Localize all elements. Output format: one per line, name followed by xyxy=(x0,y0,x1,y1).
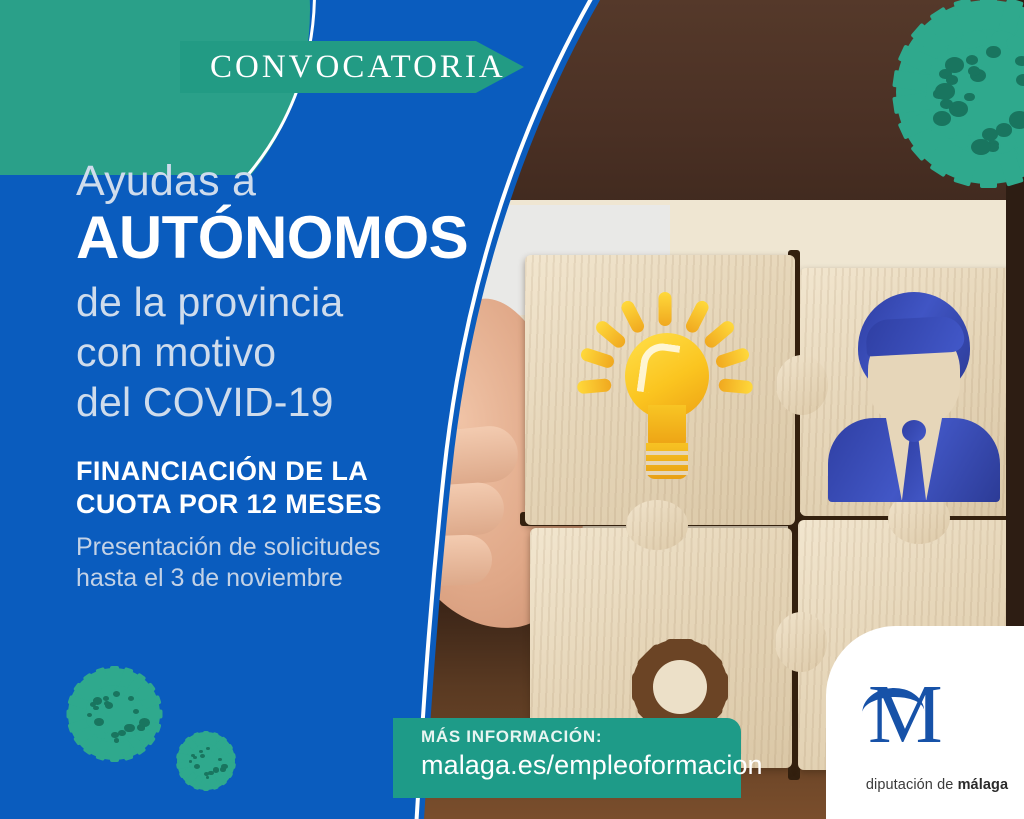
puzzle-knob xyxy=(626,500,688,550)
lightbulb-ring xyxy=(646,451,688,455)
convocatoria-label: CONVOCATORIA xyxy=(180,51,506,84)
virus-spot xyxy=(194,764,200,769)
deadline-line-2: hasta el 3 de noviembre xyxy=(76,563,496,594)
headline-line-5: del COVID-19 xyxy=(76,377,496,427)
lightbulb-ray xyxy=(659,292,672,326)
convocatoria-banner: CONVOCATORIA xyxy=(180,41,524,93)
virus-spot xyxy=(133,709,139,714)
logo-caption-bold: málaga xyxy=(958,777,1009,793)
virus-spot xyxy=(138,726,144,731)
puzzle-knob xyxy=(775,612,827,672)
coronavirus-icon-medium xyxy=(48,648,180,780)
financiacion-line-1: FINANCIACIÓN DE LA xyxy=(76,455,496,488)
lightbulb-ray xyxy=(579,347,615,370)
website-url[interactable]: malaga.es/empleoformacion xyxy=(421,749,741,781)
virus-spot xyxy=(218,758,222,761)
more-info-label: MÁS INFORMACIÓN: xyxy=(421,727,741,747)
lightbulb-ray xyxy=(718,378,753,394)
subheading-block: FINANCIACIÓN DE LA CUOTA POR 12 MESES Pr… xyxy=(76,455,496,594)
virus-spot xyxy=(93,697,103,705)
lightbulb-ray xyxy=(714,347,750,370)
deadline-line-1: Presentación de solicitudes xyxy=(76,532,496,563)
gear-hole xyxy=(653,660,707,714)
headline-autonomos: AUTÓNOMOS xyxy=(76,206,496,270)
virus-spot xyxy=(935,83,955,99)
lightbulb-ray xyxy=(577,378,612,394)
virus-spot xyxy=(208,771,213,775)
businessman-tie-knot xyxy=(902,420,926,442)
poster: CONVOCATORIA Ayudas a AUTÓNOMOS de la pr… xyxy=(0,0,1024,819)
lightbulb-ring xyxy=(646,471,688,475)
lightbulb-ray xyxy=(684,299,711,335)
diputacion-logo-panel: M diputación de málaga xyxy=(826,626,1024,819)
coronavirus-icon-small xyxy=(163,718,249,804)
virus-spot xyxy=(1015,56,1024,67)
virus-spot xyxy=(193,756,197,759)
lightbulb-ring xyxy=(646,461,688,465)
headline-line-4: con motivo xyxy=(76,327,496,377)
headline-block: Ayudas a AUTÓNOMOS de la provincia con m… xyxy=(76,160,496,428)
virus-spot xyxy=(199,750,203,753)
headline-line-1: Ayudas a xyxy=(76,160,496,204)
businessman-icon xyxy=(810,288,1020,498)
lightbulb-icon xyxy=(560,275,770,485)
logo-caption: diputación de málaga xyxy=(852,778,1022,794)
more-info-box: MÁS INFORMACIÓN: malaga.es/empleoformaci… xyxy=(393,718,741,798)
virus-spot xyxy=(103,696,109,701)
businessman-fringe xyxy=(865,315,965,356)
virus-spot xyxy=(128,696,134,701)
logo-caption-light: diputación de xyxy=(866,777,958,793)
financiacion-line-2: CUOTA POR 12 MESES xyxy=(76,488,496,521)
virus-spot xyxy=(966,55,978,65)
lightbulb-ray xyxy=(702,318,736,350)
coronavirus-icon-large xyxy=(858,0,1024,222)
lightbulb-ray xyxy=(619,299,646,335)
virus-spot xyxy=(996,123,1013,137)
lightbulb-neck xyxy=(648,405,686,447)
lightbulb-ray xyxy=(593,318,627,350)
headline-line-3: de la provincia xyxy=(76,277,496,327)
virus-spot xyxy=(114,738,120,743)
virus-spot xyxy=(964,93,975,102)
virus-spot xyxy=(933,111,951,126)
virus-spot xyxy=(986,46,1000,58)
